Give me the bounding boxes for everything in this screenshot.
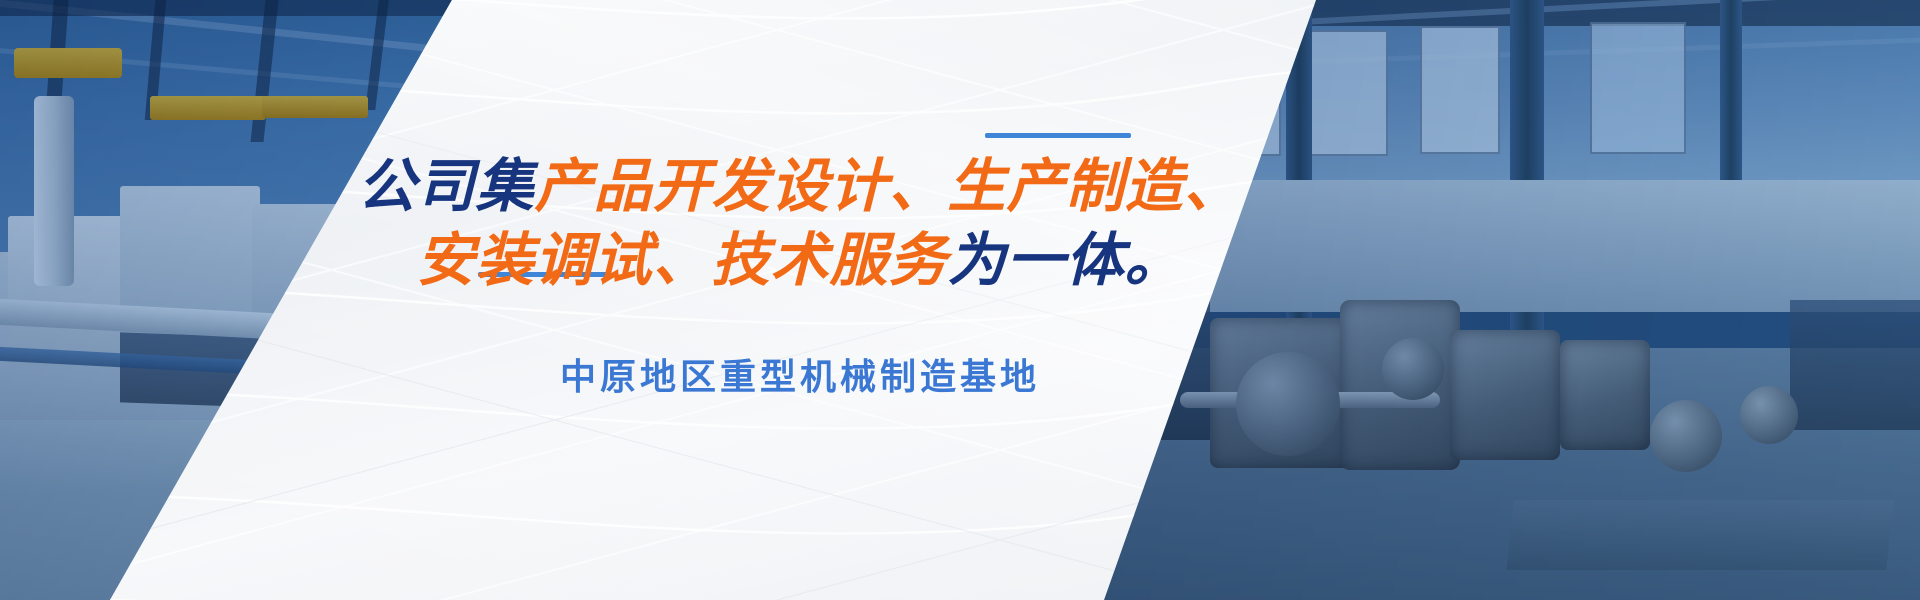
- hero-banner: 公司集产品开发设计、生产制造、 安装调试、技术服务为一体。 中原地区重型机械制造…: [0, 0, 1920, 600]
